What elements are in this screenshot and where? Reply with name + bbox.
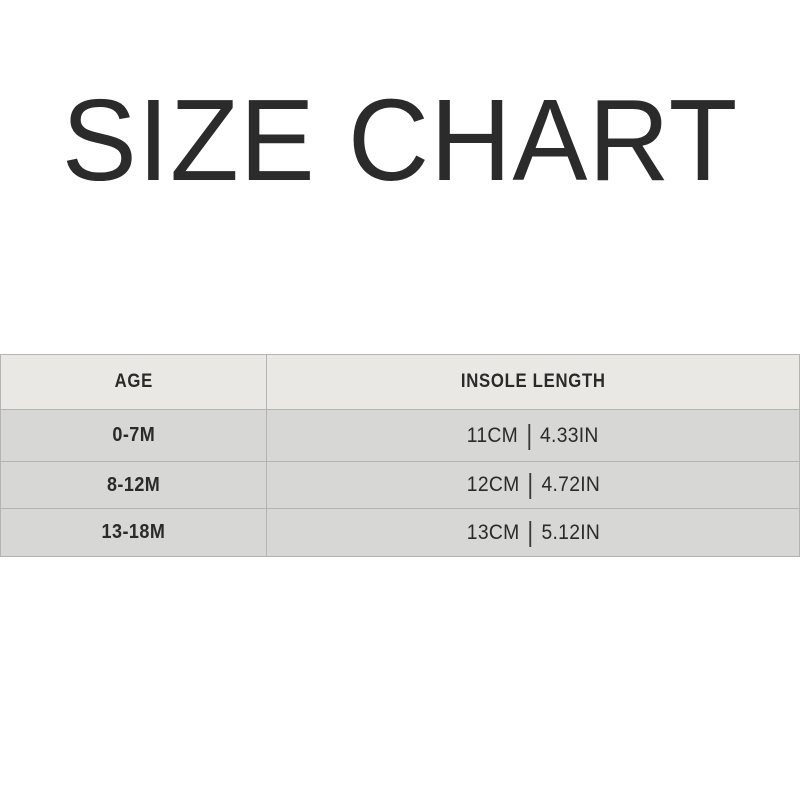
size-chart-page: SIZE CHART AGE INSOLE LENGTH <box>0 0 800 800</box>
column-header-age: AGE <box>1 355 267 410</box>
table-header: AGE INSOLE LENGTH <box>1 355 800 410</box>
age-value: 13-18M <box>102 521 166 544</box>
table-cell-age: 8-12M <box>1 462 267 509</box>
column-header-insole-length: INSOLE LENGTH <box>267 355 800 410</box>
age-value: 0-7M <box>112 424 155 447</box>
column-header-insole-length-label: INSOLE LENGTH <box>461 371 606 393</box>
table-cell-age: 13-18M <box>1 509 267 557</box>
table-cell-insole-length: 11CM 4.33IN <box>267 410 800 462</box>
insole-length-value: 11CM 4.33IN <box>467 423 599 449</box>
size-chart-table-container: AGE INSOLE LENGTH 0-7M 11CM <box>0 354 799 557</box>
table-row: 0-7M 11CM 4.33IN <box>1 410 800 462</box>
insole-length-cm: 11CM <box>467 424 518 448</box>
page-title: SIZE CHART <box>12 82 788 198</box>
insole-separator-bar <box>528 424 530 450</box>
table-cell-age: 0-7M <box>1 410 267 462</box>
table-cell-insole-length: 12CM 4.72IN <box>267 462 800 509</box>
table-body: 0-7M 11CM 4.33IN 8-12M <box>1 410 800 557</box>
table-cell-insole-length: 13CM 5.12IN <box>267 509 800 557</box>
column-header-age-label: AGE <box>114 371 152 393</box>
insole-length-inches: 5.12IN <box>541 521 600 545</box>
size-chart-table: AGE INSOLE LENGTH 0-7M 11CM <box>0 354 800 557</box>
table-row: 8-12M 12CM 4.72IN <box>1 462 800 509</box>
insole-separator-bar <box>529 473 531 499</box>
table-row: 13-18M 13CM 5.12IN <box>1 509 800 557</box>
insole-length-value: 13CM 5.12IN <box>466 520 599 546</box>
insole-length-value: 12CM 4.72IN <box>466 472 599 498</box>
age-value: 8-12M <box>107 474 160 497</box>
insole-length-cm: 12CM <box>466 473 519 497</box>
table-header-row: AGE INSOLE LENGTH <box>1 355 800 410</box>
insole-length-inches: 4.72IN <box>541 473 600 497</box>
insole-separator-bar <box>529 521 531 547</box>
insole-length-inches: 4.33IN <box>540 424 599 448</box>
insole-length-cm: 13CM <box>466 521 519 545</box>
